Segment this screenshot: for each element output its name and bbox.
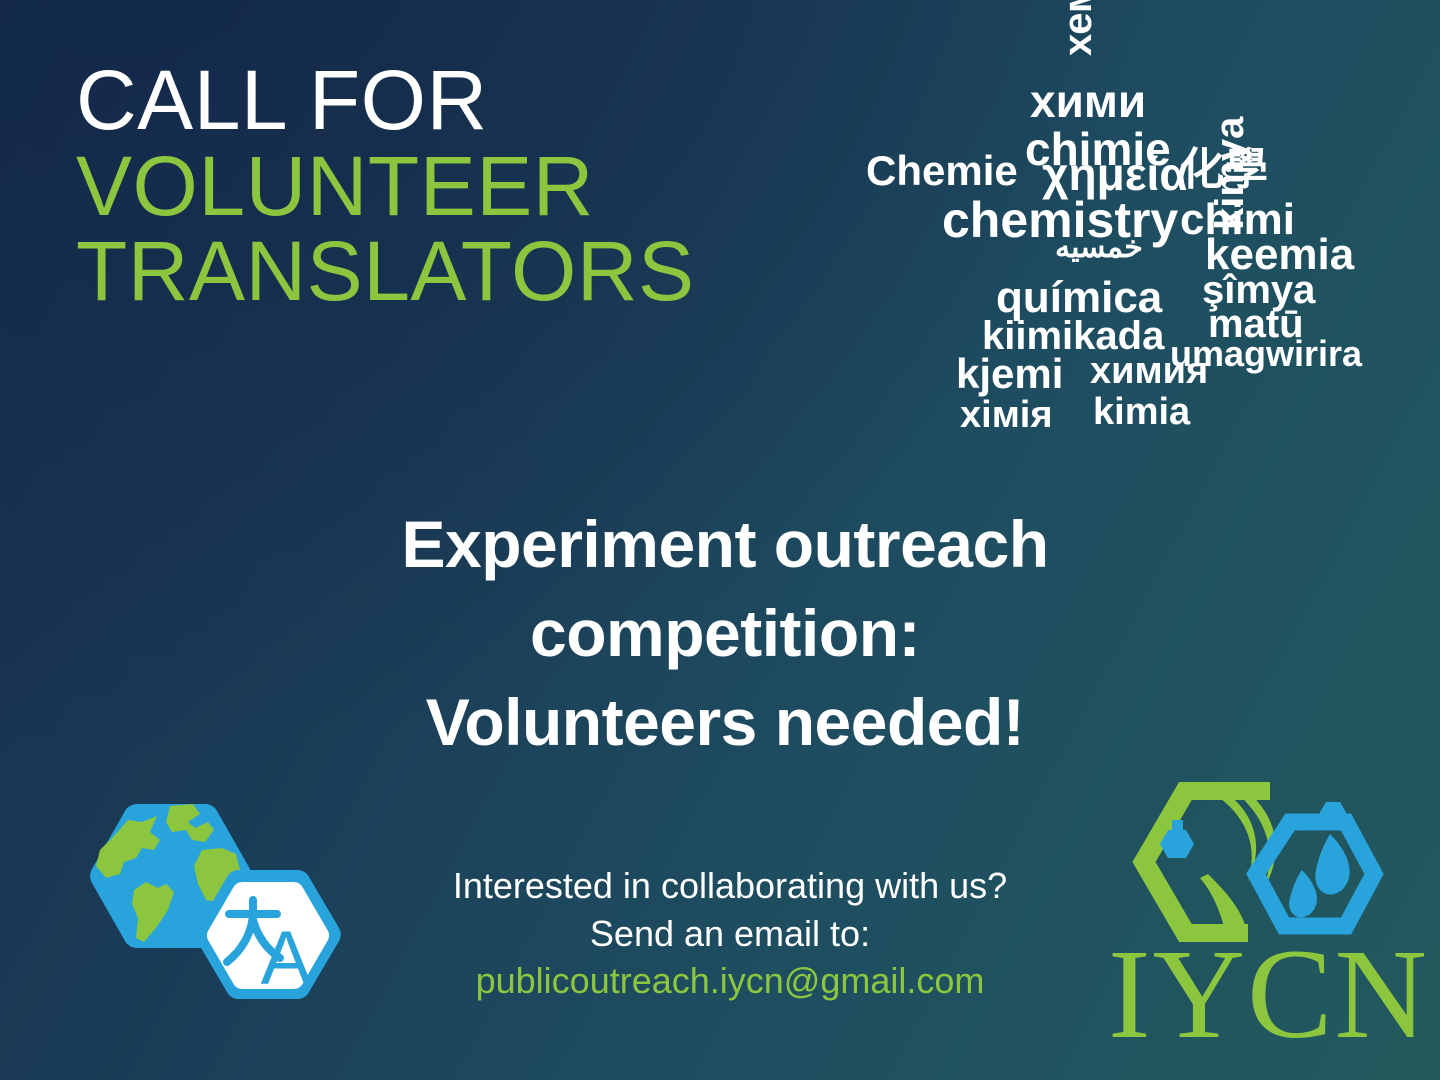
- iycn-logo: IYCN: [1108, 782, 1428, 1067]
- translate-latin-glyph: A: [261, 916, 312, 1001]
- headline-line-2: VOLUNTEER: [76, 144, 836, 230]
- contact-line-2: Send an email to:: [310, 910, 1150, 958]
- headline-line-1: CALL FOR: [76, 58, 836, 144]
- word-cloud-term: خمسيه: [1055, 233, 1143, 263]
- subheadline-line-3: Volunteers needed!: [180, 678, 1270, 767]
- page-title: CALL FOR VOLUNTEER TRANSLATORS: [76, 58, 836, 315]
- contact-line-1: Interested in collaborating with us?: [310, 862, 1150, 910]
- globe-translate-logo: A: [62, 792, 362, 1032]
- poster-canvas: CALL FOR VOLUNTEER TRANSLATORS хемијахим…: [0, 0, 1440, 1080]
- word-cloud-term: kimya: [1210, 117, 1250, 230]
- contact-block: Interested in collaborating with us? Sen…: [310, 862, 1150, 1005]
- subheadline: Experiment outreach competition: Volunte…: [180, 500, 1270, 767]
- word-cloud-term: χημεία: [1042, 151, 1188, 197]
- contact-email[interactable]: publicoutreach.iycn@gmail.com: [310, 957, 1150, 1005]
- word-cloud-term: хімія: [960, 396, 1053, 434]
- word-cloud-term: хемија: [1058, 0, 1098, 56]
- word-cloud-term: хими: [1030, 78, 1146, 124]
- subheadline-line-2: competition:: [180, 589, 1270, 678]
- word-cloud-term: химия: [1090, 352, 1208, 390]
- word-cloud-term: kimia: [1093, 393, 1190, 431]
- word-cloud-term: Chemie: [866, 150, 1018, 192]
- chemistry-word-cloud: хемијахимиchimieChemieχημεία化學chemistryc…: [850, 48, 1410, 438]
- iycn-mark-icon: [1108, 782, 1428, 942]
- word-cloud-term: kjemi: [956, 353, 1063, 395]
- headline-line-3: TRANSLATORS: [76, 229, 836, 315]
- subheadline-line-1: Experiment outreach: [180, 500, 1270, 589]
- iycn-wordmark: IYCN: [1108, 930, 1408, 1058]
